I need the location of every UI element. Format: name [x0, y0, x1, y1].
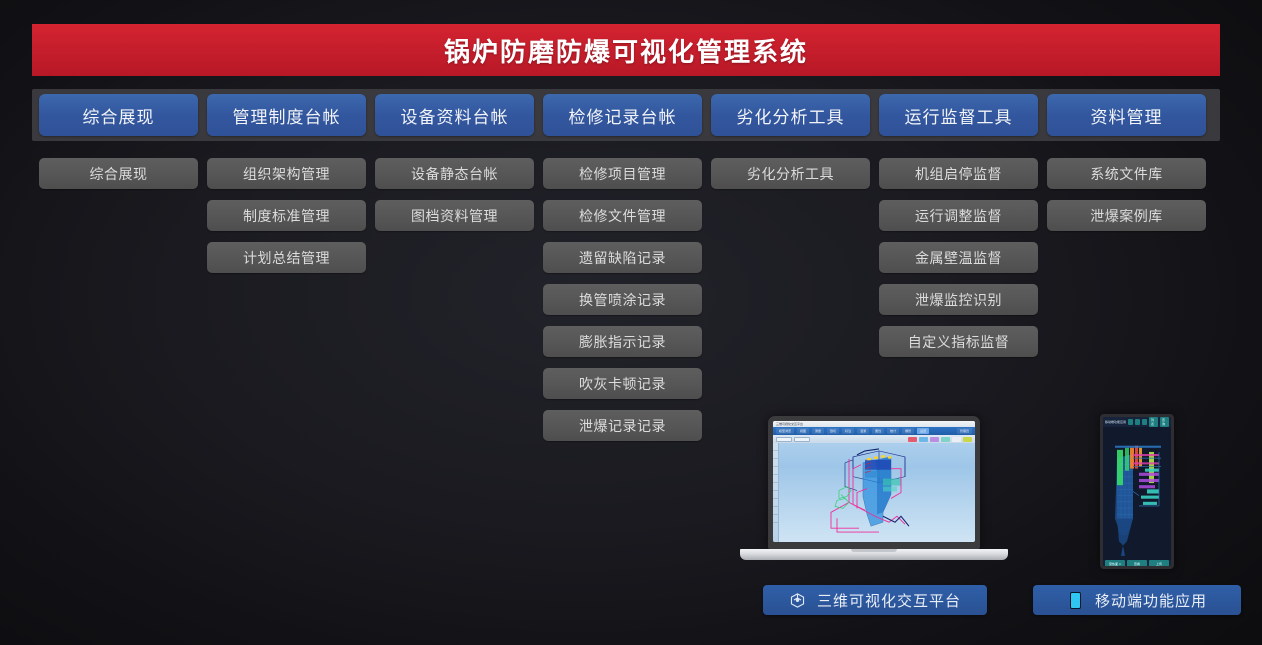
- toolbar-field-unit[interactable]: [776, 437, 792, 442]
- toolbar-chip-red[interactable]: [908, 437, 917, 442]
- sidebar-row[interactable]: [773, 451, 778, 459]
- module-item-button[interactable]: 金属壁温监督: [879, 242, 1038, 273]
- column-header-button[interactable]: 运行监督工具: [879, 94, 1038, 136]
- column-item-list: 组织架构管理制度标准管理计划总结管理: [207, 158, 366, 273]
- sidebar-row[interactable]: [773, 475, 778, 483]
- toolbar-field-area[interactable]: [794, 437, 810, 442]
- module-item-button[interactable]: 换管喷涂记录: [543, 284, 702, 315]
- module-item-button[interactable]: 计划总结管理: [207, 242, 366, 273]
- module-item-button[interactable]: 膨胀指示记录: [543, 326, 702, 357]
- sidebar-row[interactable]: [773, 443, 778, 451]
- mobile-app-topbar: 移动端功能应用 列表 查询: [1103, 417, 1171, 427]
- desktop-menu-item[interactable]: 漫游: [857, 428, 869, 434]
- column-item-list: 设备静态台帐图档资料管理: [375, 158, 534, 231]
- toolbar-chip-white[interactable]: [952, 437, 961, 442]
- module-item-button[interactable]: 遗留缺陷记录: [543, 242, 702, 273]
- mobile-topbar-button-query[interactable]: 查询: [1160, 417, 1169, 427]
- module-item-button[interactable]: 泄爆监控识别: [879, 284, 1038, 315]
- phone-icon: [1067, 591, 1085, 609]
- toolbar-chip-purple[interactable]: [930, 437, 939, 442]
- laptop-screen: 三维可视化交互平台 模型浏览视图测量剖切标注漫游属性统计爆管设置管理员: [773, 421, 975, 542]
- mobile-bottom-button-surface[interactable]: 受热面 ∨: [1105, 560, 1125, 566]
- module-column: 运行监督工具机组启停监督运行调整监督金属壁温监督泄爆监控识别自定义指标监督: [879, 94, 1038, 441]
- module-item-button[interactable]: 检修项目管理: [543, 158, 702, 189]
- boiler-3d-model-mobile[interactable]: [1103, 427, 1171, 560]
- module-item-button[interactable]: 综合展现: [39, 158, 198, 189]
- module-item-button[interactable]: 图档资料管理: [375, 200, 534, 231]
- page-title: 锅炉防磨防爆可视化管理系统: [444, 32, 808, 69]
- desktop-app-menubar: 模型浏览视图测量剖切标注漫游属性统计爆管设置管理员: [773, 427, 975, 435]
- sidebar-row[interactable]: [773, 499, 778, 507]
- mobile-app-bottombar: 受热面 ∨ 查看 上传: [1103, 560, 1171, 566]
- desktop-menu-item[interactable]: 视图: [797, 428, 809, 434]
- column-header-button[interactable]: 综合展现: [39, 94, 198, 136]
- module-columns: 综合展现综合展现管理制度台帐组织架构管理制度标准管理计划总结管理设备资料台帐设备…: [39, 94, 1219, 441]
- cube-icon: [789, 591, 807, 609]
- desktop-menu-item[interactable]: 属性: [872, 428, 884, 434]
- mobile-icon-measure[interactable]: [1142, 419, 1147, 425]
- platform-caption-button[interactable]: 三维可视化交互平台: [763, 585, 987, 615]
- toolbar-chip-blue[interactable]: [919, 437, 928, 442]
- module-item-button[interactable]: 泄爆记录记录: [543, 410, 702, 441]
- desktop-menu-item[interactable]: 模型浏览: [776, 428, 794, 434]
- module-column: 管理制度台帐组织架构管理制度标准管理计划总结管理: [207, 94, 366, 441]
- column-item-list: 综合展现: [39, 158, 198, 189]
- module-item-button[interactable]: 劣化分析工具: [711, 158, 870, 189]
- sidebar-row[interactable]: [773, 467, 778, 475]
- desktop-menu-item[interactable]: 统计: [887, 428, 899, 434]
- module-column: 资料管理系统文件库泄爆案例库: [1047, 94, 1206, 441]
- module-column: 设备资料台帐设备静态台帐图档资料管理: [375, 94, 534, 441]
- mobile-app-title: 移动端功能应用: [1105, 420, 1126, 424]
- desktop-app-title: 三维可视化交互平台: [776, 422, 803, 426]
- mobile-bottom-button-upload[interactable]: 上传: [1149, 560, 1169, 566]
- desktop-app-toolbar: [773, 435, 975, 443]
- module-item-button[interactable]: 系统文件库: [1047, 158, 1206, 189]
- desktop-menu-item[interactable]: 剖切: [827, 428, 839, 434]
- module-item-button[interactable]: 设备静态台帐: [375, 158, 534, 189]
- boiler-3d-model-desktop[interactable]: [779, 443, 975, 542]
- laptop-base: [740, 549, 1008, 560]
- column-item-list: 机组启停监督运行调整监督金属壁温监督泄爆监控识别自定义指标监督: [879, 158, 1038, 357]
- module-item-button[interactable]: 吹灰卡顿记录: [543, 368, 702, 399]
- sidebar-row[interactable]: [773, 459, 778, 467]
- column-header-button[interactable]: 检修记录台帐: [543, 94, 702, 136]
- sidebar-row[interactable]: [773, 515, 778, 523]
- module-item-button[interactable]: 机组启停监督: [879, 158, 1038, 189]
- module-item-button[interactable]: 制度标准管理: [207, 200, 366, 231]
- sidebar-row[interactable]: [773, 483, 778, 491]
- sidebar-row[interactable]: [773, 507, 778, 515]
- column-header-button[interactable]: 管理制度台帐: [207, 94, 366, 136]
- mobile-caption-button[interactable]: 移动端功能应用: [1033, 585, 1241, 615]
- sidebar-row[interactable]: [773, 491, 778, 499]
- column-header-button[interactable]: 设备资料台帐: [375, 94, 534, 136]
- module-item-button[interactable]: 泄爆案例库: [1047, 200, 1206, 231]
- column-header-button[interactable]: 资料管理: [1047, 94, 1206, 136]
- platform-caption-label: 三维可视化交互平台: [817, 590, 961, 611]
- toolbar-chip-yellow[interactable]: [963, 437, 972, 442]
- desktop-menu-item[interactable]: 标注: [842, 428, 854, 434]
- mobile-topbar-button-list[interactable]: 列表: [1149, 417, 1158, 427]
- desktop-menu-item[interactable]: 设置: [917, 428, 929, 434]
- module-column: 劣化分析工具劣化分析工具: [711, 94, 870, 441]
- laptop-mockup: 三维可视化交互平台 模型浏览视图测量剖切标注漫游属性统计爆管设置管理员: [768, 416, 980, 549]
- desktop-user-label[interactable]: 管理员: [957, 428, 972, 434]
- mobile-bottom-button-view[interactable]: 查看: [1127, 560, 1147, 566]
- mobile-caption-label: 移动端功能应用: [1095, 590, 1207, 611]
- desktop-menu-item[interactable]: 测量: [812, 428, 824, 434]
- column-item-list: 劣化分析工具: [711, 158, 870, 189]
- toolbar-chip-teal[interactable]: [941, 437, 950, 442]
- column-item-list: 系统文件库泄爆案例库: [1047, 158, 1206, 231]
- column-header-button[interactable]: 劣化分析工具: [711, 94, 870, 136]
- module-item-button[interactable]: 组织架构管理: [207, 158, 366, 189]
- phone-screen: 移动端功能应用 列表 查询: [1103, 417, 1171, 566]
- module-column: 检修记录台帐检修项目管理检修文件管理遗留缺陷记录换管喷涂记录膨胀指示记录吹灰卡顿…: [543, 94, 702, 441]
- module-column: 综合展现综合展现: [39, 94, 198, 441]
- app-title-banner: 锅炉防磨防爆可视化管理系统: [32, 24, 1220, 76]
- column-item-list: 检修项目管理检修文件管理遗留缺陷记录换管喷涂记录膨胀指示记录吹灰卡顿记录泄爆记录…: [543, 158, 702, 441]
- module-item-button[interactable]: 检修文件管理: [543, 200, 702, 231]
- desktop-menu-item[interactable]: 爆管: [902, 428, 914, 434]
- module-item-button[interactable]: 运行调整监督: [879, 200, 1038, 231]
- phone-mockup: 移动端功能应用 列表 查询: [1100, 414, 1174, 569]
- mobile-icon-list[interactable]: [1128, 419, 1133, 425]
- mobile-icon-view[interactable]: [1135, 419, 1140, 425]
- module-item-button[interactable]: 自定义指标监督: [879, 326, 1038, 357]
